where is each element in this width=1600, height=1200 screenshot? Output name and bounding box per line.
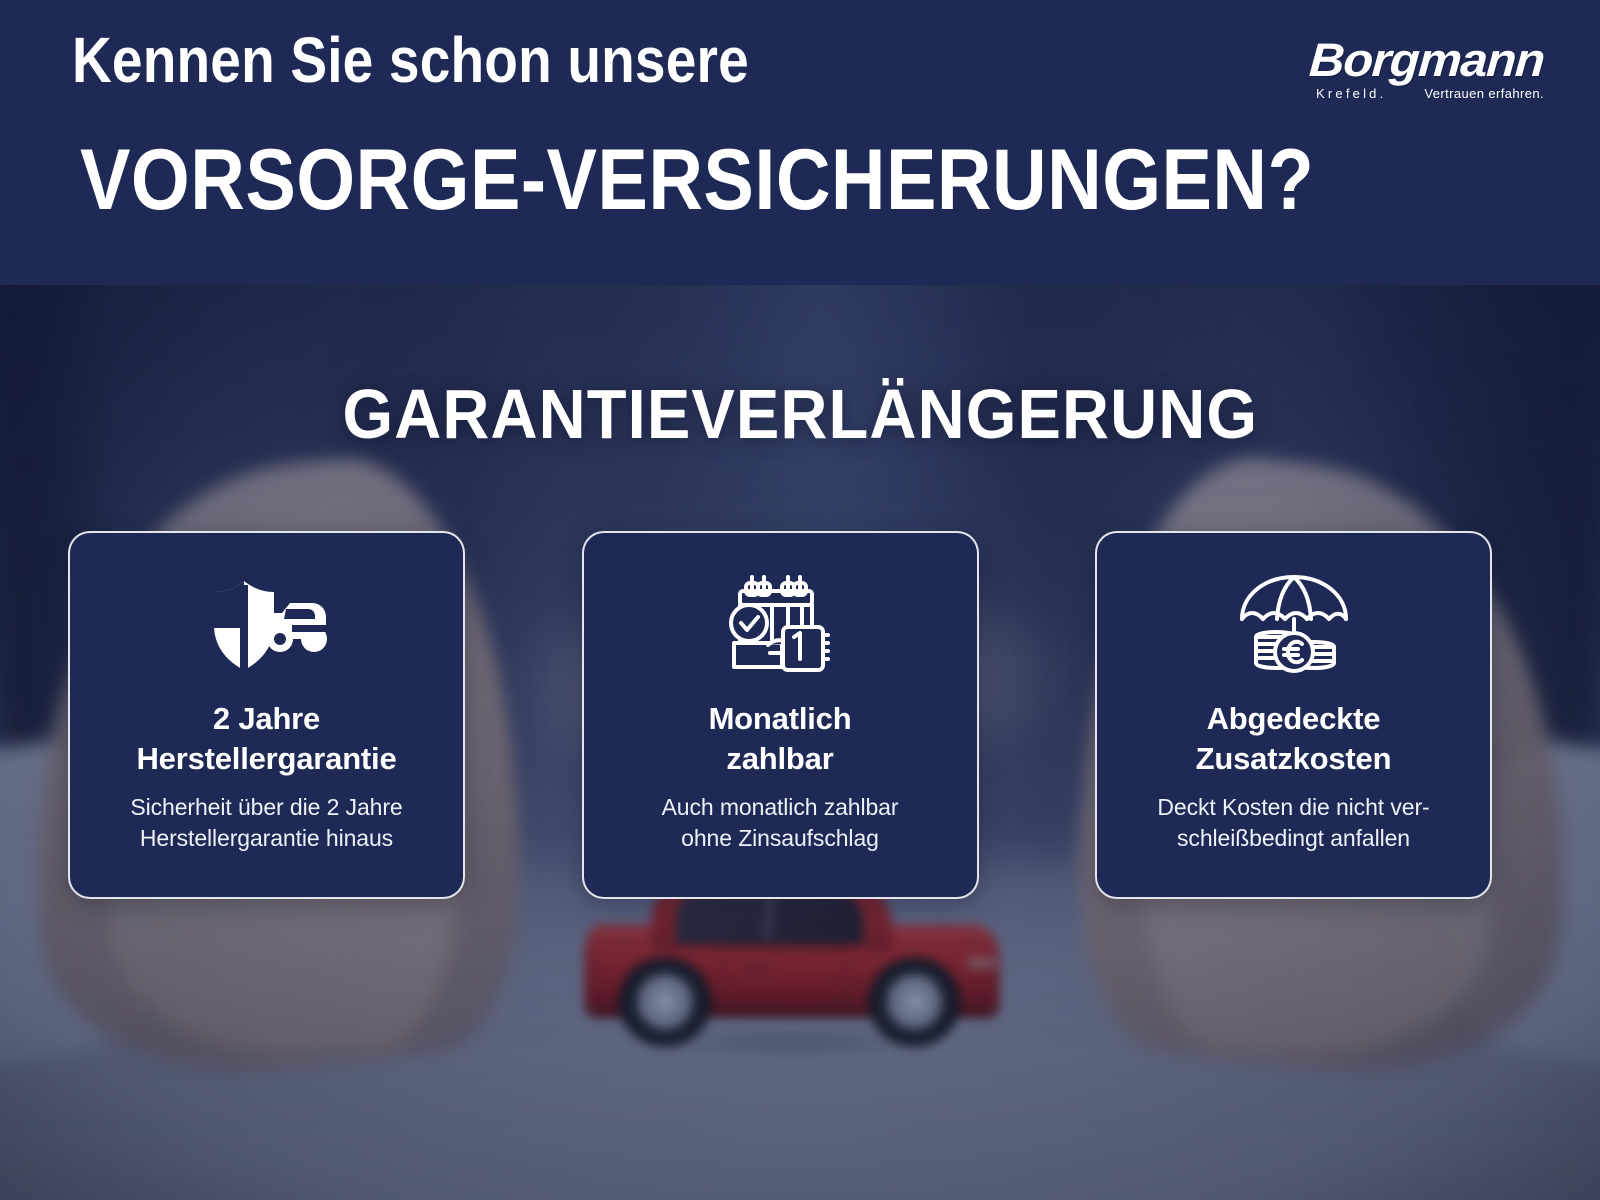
page-title: GARANTIEVERLÄNGERUNG [0, 378, 1600, 451]
card-desc-line-2: schleißbedingt anfallen [1157, 823, 1429, 854]
logo-claim: Vertrauen erfahren. [1424, 86, 1544, 102]
shield-car-icon [204, 565, 330, 685]
card-title-line-2: Herstellergarantie [136, 739, 396, 779]
page-title-text: GARANTIEVERLÄNGERUNG [342, 378, 1258, 451]
card-title-line-1: 2 Jahre [136, 699, 396, 739]
card-desc-line-2: ohne Zinsaufschlag [662, 823, 899, 854]
calendar-check-payment-icon [724, 565, 836, 685]
card-desc-line-1: Auch monatlich zahlbar [662, 792, 899, 823]
feature-card-herstellergarantie[interactable]: 2 Jahre Herstellergarantie Sicherheit üb… [68, 531, 465, 899]
feature-card-zusatzkosten[interactable]: Abgedeckte Zusatzkosten Deckt Kosten die… [1095, 531, 1492, 899]
card-description: Sicherheit über die 2 Jahre Herstellerga… [130, 792, 402, 854]
feature-card-row: 2 Jahre Herstellergarantie Sicherheit üb… [68, 531, 1492, 899]
logo-city: Krefeld. [1316, 86, 1386, 102]
card-description: Auch monatlich zahlbar ohne Zinsaufschla… [662, 792, 899, 854]
umbrella-coins-euro-icon [1234, 565, 1354, 685]
logo-tagline: Krefeld. Vertrauen erfahren. [1316, 86, 1544, 102]
card-title-line-2: Zusatzkosten [1196, 739, 1392, 779]
card-desc-line-1: Deckt Kosten die nicht ver- [1157, 792, 1429, 823]
card-desc-line-1: Sicherheit über die 2 Jahre [130, 792, 402, 823]
card-title-line-1: Monatlich [709, 699, 852, 739]
card-description: Deckt Kosten die nicht ver- schleißbedin… [1157, 792, 1429, 854]
card-title-line-2: zahlbar [709, 739, 852, 779]
header-bar: Kennen Sie schon unsere VORSORGE-VERSICH… [0, 0, 1600, 285]
feature-card-monatlich-zahlbar[interactable]: Monatlich zahlbar Auch monatlich zahlbar… [582, 531, 979, 899]
card-title: Abgedeckte Zusatzkosten [1196, 699, 1392, 778]
headline-main: VORSORGE-VERSICHERUNGEN? [80, 135, 1314, 225]
card-title: Monatlich zahlbar [709, 699, 852, 778]
promo-banner: Kennen Sie schon unsere VORSORGE-VERSICH… [0, 0, 1600, 1200]
logo-wordmark: Borgmann [1305, 36, 1545, 83]
headline-subtitle: Kennen Sie schon unsere [72, 26, 749, 95]
card-title: 2 Jahre Herstellergarantie [136, 699, 396, 778]
card-title-line-1: Abgedeckte [1196, 699, 1392, 739]
card-desc-line-2: Herstellergarantie hinaus [130, 823, 402, 854]
borgmann-logo[interactable]: Borgmann Krefeld. Vertrauen erfahren. [1316, 36, 1544, 108]
